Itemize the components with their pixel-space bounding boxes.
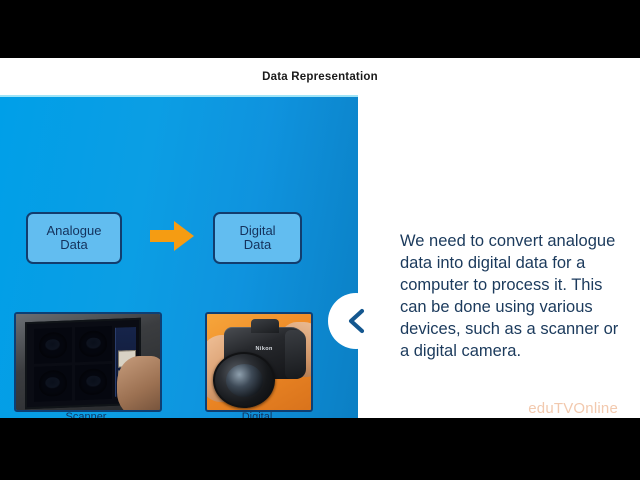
scan-image <box>74 326 112 362</box>
previous-slide-button[interactable] <box>328 293 384 349</box>
panel-top-accent-line <box>0 95 358 97</box>
video-player-stage: Data Representation Analogue Data Digita… <box>0 0 640 480</box>
analogue-data-label-line2: Data <box>60 238 87 252</box>
operator-arm <box>117 356 162 412</box>
scan-image-grid <box>33 326 112 402</box>
camera-lens <box>213 352 275 408</box>
text-panel: We need to convert analogue data into di… <box>358 95 640 418</box>
arrow-right-icon <box>148 219 196 253</box>
letterbox-bottom <box>0 418 640 480</box>
body-paragraph: We need to convert analogue data into di… <box>400 231 624 363</box>
slide-canvas: Data Representation Analogue Data Digita… <box>0 58 640 418</box>
blue-content-panel: Analogue Data Digital Data <box>0 95 358 418</box>
camera-brand-label: Nikon <box>248 346 280 352</box>
camera-grip <box>285 330 306 380</box>
digital-camera-caption: Digital camera <box>199 411 315 418</box>
camera-caption-line1: Digital <box>199 411 315 418</box>
scan-image <box>33 327 71 363</box>
page-title: Data Representation <box>262 71 378 83</box>
camera-photo-scene: Nikon <box>207 314 311 410</box>
camera-prism <box>251 319 279 332</box>
analogue-data-label-line1: Analogue <box>47 224 102 238</box>
analogue-data-box: Analogue Data <box>26 212 122 264</box>
chevron-left-icon <box>345 308 367 334</box>
digital-camera-photo: Nikon <box>205 312 313 412</box>
scan-image <box>33 365 71 401</box>
scanner-caption-line1: Scanner <box>66 411 107 418</box>
brand-watermark: eduTVOnline <box>358 400 618 417</box>
scanner-photo-scene <box>16 314 160 410</box>
scanner-photo <box>14 312 162 412</box>
digital-data-box: Digital Data <box>213 212 302 264</box>
digital-data-label-line2: Data <box>244 238 271 252</box>
slide-title-bar: Data Representation <box>0 58 640 95</box>
scanner-caption: Scanner <box>14 411 158 418</box>
letterbox-top <box>0 0 640 58</box>
digital-data-label-line1: Digital <box>239 224 275 238</box>
scan-image <box>74 363 112 399</box>
